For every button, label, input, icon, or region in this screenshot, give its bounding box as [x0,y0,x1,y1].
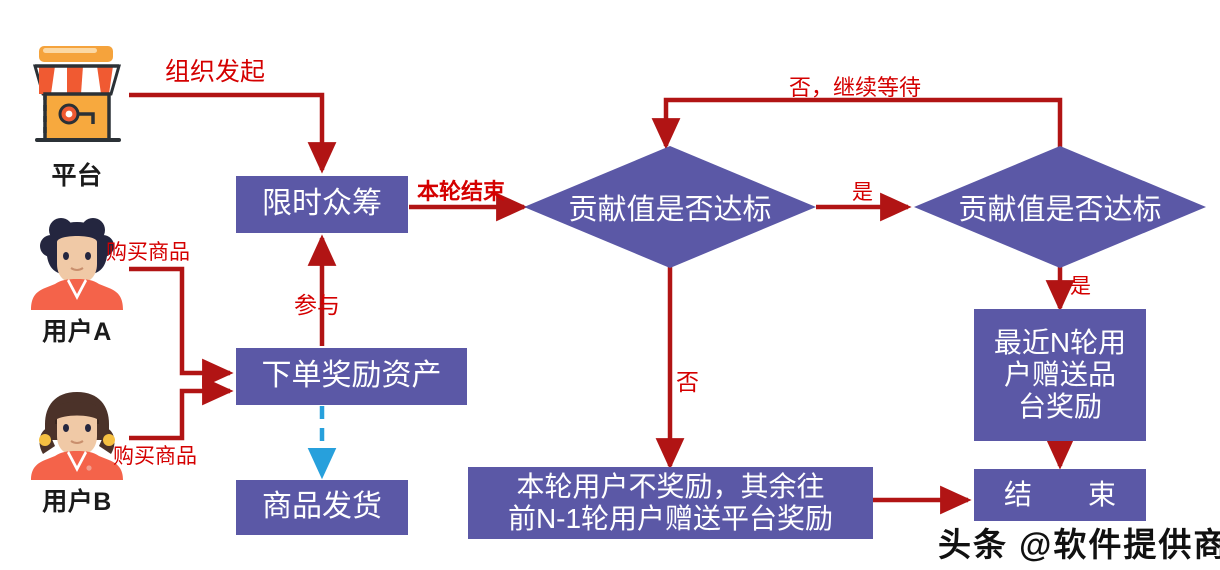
edge-usera-to-order [129,269,230,373]
edge-label-no-keep-waiting: 否，继续等待 [789,70,921,102]
actor-user-a-caption: 用户A [22,312,132,348]
edge-label-yes-down: 是 [1070,270,1091,300]
node-recent-n-rounds-reward[interactable]: 最近N轮用 户赠送品 台奖励 [974,309,1146,441]
node-no-reward-line-1: 本轮用户不奖励，其余往 [468,471,873,503]
edge-label-yes-between: 是 [852,176,873,206]
actor-platform-caption: 平台 [22,156,132,192]
edge-label-organize-launch: 组织发起 [165,52,265,88]
watermark: 头条 @软件提供商 [938,518,1220,566]
node-end-label: 结 束 [974,479,1146,511]
edge-label-buy-goods-a: 购买商品 [106,236,190,266]
node-recent-n-rounds-line-1: 最近N轮用 [974,327,1146,359]
edge-label-buy-goods-b: 购买商品 [113,440,197,470]
edge-userb-to-order [129,391,230,438]
actor-platform: 平台 [22,36,132,192]
node-crowdfunding-label: 限时众筹 [236,187,408,221]
node-no-reward-this-round[interactable]: 本轮用户不奖励，其余往 前N-1轮用户赠送平台奖励 [468,467,873,539]
node-goods-shipment[interactable]: 商品发货 [236,480,408,535]
edge-platform-to-crowdfunding [129,95,322,170]
node-recent-n-rounds-line-3: 台奖励 [974,391,1146,423]
edge-decision2-no-loopback [666,100,1060,152]
decision-contribution-check-1[interactable]: 贡献值是否达标 [524,146,816,268]
edge-label-participate: 参与 [294,286,340,320]
flowchart-canvas: 平台 用户A [0,0,1220,570]
node-end[interactable]: 结 束 [974,469,1146,521]
node-no-reward-line-2: 前N-1轮用户赠送平台奖励 [468,503,873,535]
decision-contribution-check-2-label: 贡献值是否达标 [914,146,1206,268]
node-recent-n-rounds-line-2: 户赠送品 [974,359,1146,391]
edge-label-round-end: 本轮结束 [417,174,505,206]
storefront-icon [25,36,129,154]
node-order-reward-asset[interactable]: 下单奖励资产 [236,348,467,405]
decision-contribution-check-2[interactable]: 贡献值是否达标 [914,146,1206,268]
actor-user-b-caption: 用户B [22,482,132,518]
node-goods-shipment-label: 商品发货 [236,490,408,524]
node-order-reward-asset-label: 下单奖励资产 [236,359,467,393]
node-crowdfunding[interactable]: 限时众筹 [236,176,408,233]
decision-contribution-check-1-label: 贡献值是否达标 [524,146,816,268]
edge-label-no-branch: 否 [676,363,699,397]
